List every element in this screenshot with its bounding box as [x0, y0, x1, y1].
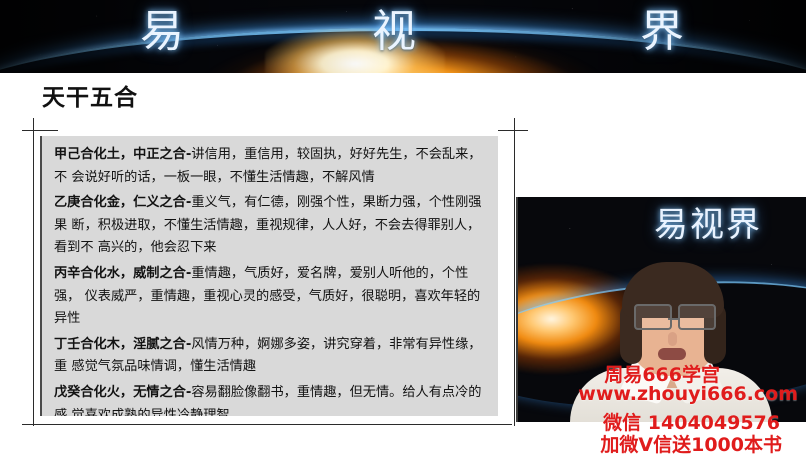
paragraph-4: 丁壬合化木，淫腻之合-风情万种，婀娜多姿，讲究穿着，非常有异性缘，重 感觉气氛品… — [54, 334, 488, 379]
watermark-promo: 加微V信送1000本书 — [600, 430, 782, 454]
paragraph-5: 戊癸合化火，无情之合-容易翻脸像翻书，重情趣，但无情。给人有点冷的感 觉喜欢成熟… — [54, 382, 488, 416]
paragraph-2-lead: 乙庚合化金，仁义之合- — [54, 195, 191, 210]
paragraph-4-lead: 丁壬合化木，淫腻之合- — [54, 337, 191, 352]
banner-char-1: 易 — [140, 6, 184, 58]
crop-mark-left-vertical — [33, 118, 34, 426]
glasses-lens-right-icon — [678, 304, 716, 330]
crop-mark-top-right-horizontal — [498, 130, 528, 131]
content-textbox: 甲己合化土，中正之合-讲信用，重信用，较固执，好好先生，不会乱来，不 会说好听的… — [40, 136, 498, 416]
top-banner: 易 视 界 — [0, 0, 806, 73]
crop-mark-bottom-horizontal — [22, 424, 512, 425]
paragraph-3-lead: 丙辛合化水，威制之合- — [54, 266, 191, 281]
watermark-website: www.zhouyi666.com — [578, 383, 798, 405]
banner-title: 易 视 界 — [0, 0, 806, 73]
paragraph-2: 乙庚合化金，仁义之合-重义气，有仁德，刚强个性，果断力强，个性刚强果 断，积极进… — [54, 192, 488, 260]
slide-root: 易 视 界 天干五合 甲己合化土，中正之合-讲信用，重信用，较固执，好好先生，不… — [0, 0, 806, 454]
banner-char-2: 视 — [372, 6, 416, 58]
paragraph-5-lead: 戊癸合化火，无情之合- — [54, 385, 191, 400]
banner-char-3: 界 — [640, 6, 684, 58]
video-overlay-title: 易视界 — [654, 205, 762, 245]
glasses-bridge-icon — [668, 318, 678, 320]
presenter-mouth — [658, 348, 686, 360]
paragraph-3: 丙辛合化水，威制之合-重情趣，气质好，爱名牌，爱别人听他的，个性强， 仪表威严，… — [54, 263, 488, 331]
paragraph-1: 甲己合化土，中正之合-讲信用，重信用，较固执，好好先生，不会乱来，不 会说好听的… — [54, 144, 488, 189]
presenter-nose — [668, 332, 677, 346]
crop-mark-top-horizontal — [22, 130, 58, 131]
crop-mark-right-vertical — [514, 118, 515, 426]
paragraph-1-lead: 甲己合化土，中正之合- — [54, 147, 191, 162]
page-title: 天干五合 — [42, 78, 138, 112]
glasses-lens-left-icon — [634, 304, 672, 330]
